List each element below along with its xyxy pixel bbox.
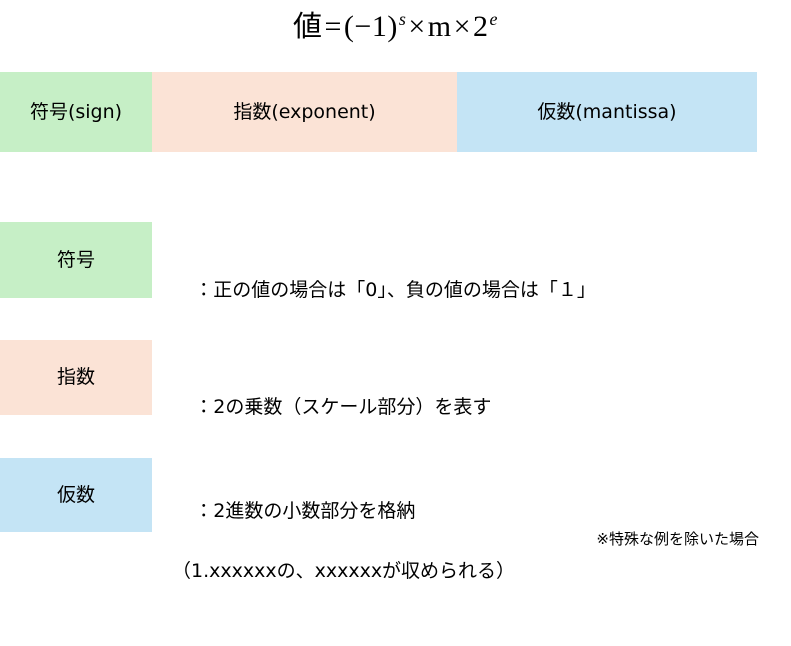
bit-segment-exponent-label: 指数(exponent) [233, 103, 375, 122]
legend-chip-sign: 符号 [0, 222, 152, 298]
bit-segment-sign-label: 符号(sign) [30, 103, 122, 122]
formula-exp-exponent: e [489, 9, 499, 29]
legend-description-exponent-line1: ：2の乗数（スケール部分）を表す [194, 396, 491, 418]
formula-paren-close: ) [387, 10, 398, 43]
bit-segment-exponent: 指数(exponent) [152, 72, 457, 152]
legend-description-mantissa-line2: （1.xxxxxxの、xxxxxxが収められる） [158, 556, 515, 586]
bit-field-bar: 符号(sign) 指数(exponent) 仮数(mantissa) [0, 72, 757, 152]
formula-paren-open: ( [344, 10, 355, 43]
bit-segment-sign: 符号(sign) [0, 72, 152, 152]
bit-segment-mantissa-label: 仮数(mantissa) [537, 103, 676, 122]
legend-chip-mantissa: 仮数 [0, 458, 152, 532]
formula-times-2: × [452, 10, 473, 43]
bit-segment-mantissa: 仮数(mantissa) [457, 72, 757, 152]
legend-description-mantissa: ：2進数の小数部分を格納 （1.xxxxxxの、xxxxxxが収められる） [158, 466, 515, 646]
value-formula: 値=(−1)s×m×2e [0, 4, 791, 49]
legend-description-sign: ：正の値の場合は「0」、負の値の場合は「１」 [158, 245, 596, 335]
legend-chip-exponent: 指数 [0, 340, 152, 415]
legend-description-mantissa-line1: ：2進数の小数部分を格納 [194, 500, 415, 522]
formula-mantissa-var: m [428, 10, 452, 43]
legend-chip-mantissa-label: 仮数 [57, 486, 95, 505]
footnote: ※特殊な例を除いた場合 [596, 528, 759, 550]
legend-description-sign-line1: ：正の値の場合は「0」、負の値の場合は「１」 [194, 279, 596, 301]
formula-lhs: 値 [293, 9, 323, 43]
formula-times-1: × [406, 10, 427, 43]
legend-description-exponent: ：2の乗数（スケール部分）を表す [158, 362, 491, 452]
legend-chip-sign-label: 符号 [57, 251, 95, 270]
formula-minus-one: −1 [354, 10, 387, 43]
formula-equals: = [322, 10, 343, 43]
legend-chip-exponent-label: 指数 [57, 368, 95, 387]
slide-canvas: 値=(−1)s×m×2e 符号(sign) 指数(exponent) 仮数(ma… [0, 0, 791, 566]
formula-base-two: 2 [473, 10, 489, 43]
